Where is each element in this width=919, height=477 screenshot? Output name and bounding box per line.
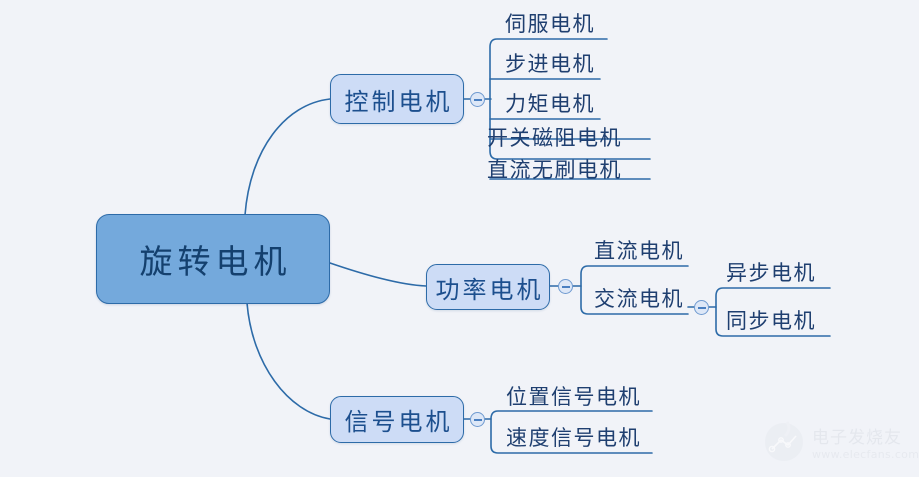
branch-node-power-label: 功率电机	[433, 270, 544, 305]
branch-node-power[interactable]: 功率电机	[426, 264, 550, 310]
leaf-signal-2[interactable]: 速度信号电机	[506, 428, 641, 449]
edge-root-power	[330, 263, 426, 286]
edge-root-control	[245, 99, 330, 215]
leaf-ac-1[interactable]: 异步电机	[726, 263, 816, 284]
mindmap-canvas: 旋转电机 控制电机 伺服电机 步进电机 力矩电机 开关磁阻电机 直流无刷电机 功…	[0, 0, 919, 477]
root-node[interactable]: 旋转电机	[96, 214, 330, 304]
minus-circle-icon-signal[interactable]	[470, 412, 485, 427]
branch-node-control-label: 控制电机	[342, 82, 453, 117]
branch-node-signal[interactable]: 信号电机	[330, 396, 464, 443]
minus-circle-icon-control[interactable]	[470, 92, 485, 107]
root-node-label: 旋转电机	[135, 235, 292, 283]
branch-node-control[interactable]: 控制电机	[330, 74, 464, 124]
minus-circle-icon-ac[interactable]	[694, 300, 709, 315]
watermark-text: 电子发烧友 www.elecfans.com	[812, 423, 919, 461]
edge-root-signal	[247, 303, 330, 419]
watermark-brand: 电子发烧友	[812, 423, 919, 448]
leaf-control-1[interactable]: 伺服电机	[505, 14, 595, 35]
leaf-control-5[interactable]: 直流无刷电机	[487, 160, 622, 181]
minus-circle-icon-power[interactable]	[558, 279, 573, 294]
elecfans-logo-icon	[761, 419, 807, 465]
leaf-power-1[interactable]: 直流电机	[594, 241, 684, 262]
leaf-control-4[interactable]: 开关磁阻电机	[487, 128, 622, 149]
leaf-ac-2[interactable]: 同步电机	[726, 311, 816, 332]
leaf-control-3[interactable]: 力矩电机	[505, 94, 595, 115]
leaf-power-2[interactable]: 交流电机	[594, 289, 684, 310]
leaf-control-2[interactable]: 步进电机	[505, 54, 595, 75]
leaf-signal-1[interactable]: 位置信号电机	[506, 387, 641, 408]
branch-node-signal-label: 信号电机	[342, 402, 453, 437]
watermark-url: www.elecfans.com	[812, 448, 919, 461]
watermark: 电子发烧友 www.elecfans.com	[761, 413, 913, 471]
